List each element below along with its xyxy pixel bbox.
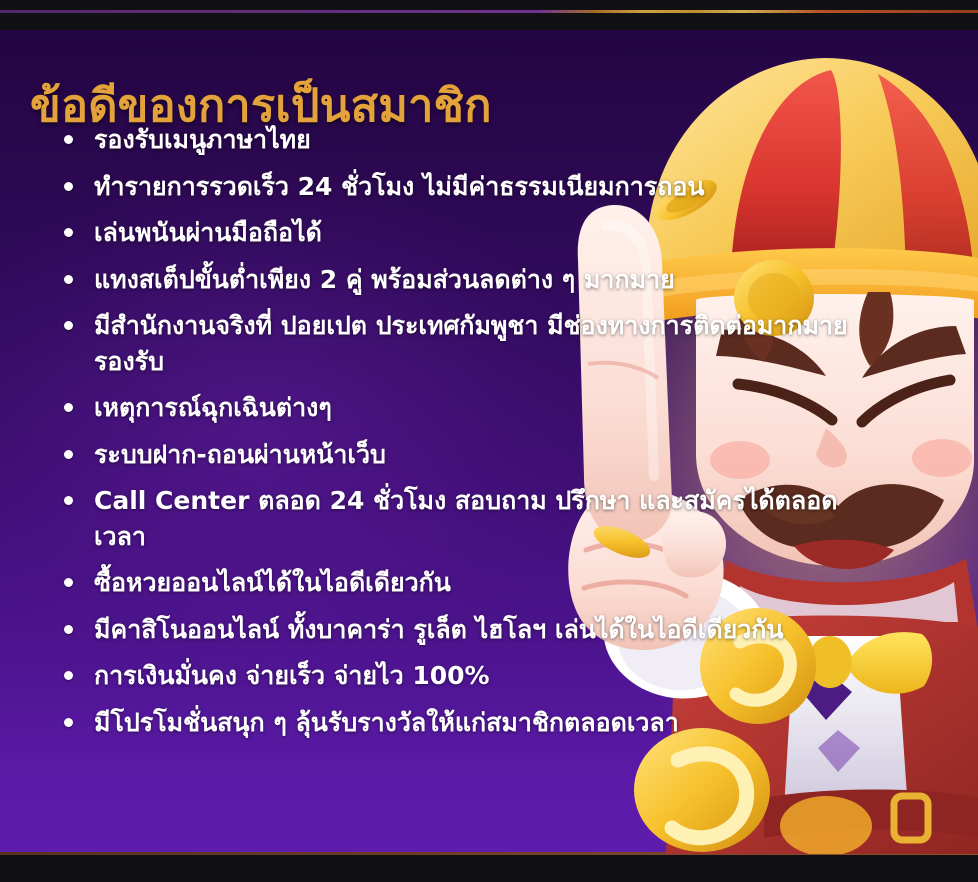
list-item: Call Center ตลอด 24 ชั่วโมง สอบถาม ปรึกษ… bbox=[58, 483, 888, 554]
banner-stage: ข้อดีของการเป็นสมาชิก รองรับเมนูภาษาไทย … bbox=[0, 30, 978, 854]
list-item: ทำรายการรวดเร็ว 24 ชั่วโมง ไม่มีค่าธรรมเ… bbox=[58, 169, 888, 205]
list-item: เหตุการณ์ฉุกเฉินต่างๆ bbox=[58, 390, 888, 426]
list-item: มีคาสิโนออนไลน์ ทั้งบาคาร่า รูเล็ต ไฮโลฯ… bbox=[58, 612, 888, 648]
list-item: มีโปรโมชั่นสนุก ๆ ลุ้นรับรางวัลให้แก่สมา… bbox=[58, 705, 888, 741]
list-item: เล่นพนันผ่านมือถือได้ bbox=[58, 215, 888, 251]
membership-benefits-banner: ข้อดีของการเป็นสมาชิก รองรับเมนูภาษาไทย … bbox=[0, 0, 978, 882]
benefits-list: รองรับเมนูภาษาไทย ทำรายการรวดเร็ว 24 ชั่… bbox=[58, 122, 888, 751]
list-item: แทงสเต็ปขั้นต่ำเพียง 2 คู่ พร้อมส่วนลดต่… bbox=[58, 262, 888, 298]
list-item: ซื้อหวยออนไลน์ได้ในไอดีเดียวกัน bbox=[58, 565, 888, 601]
top-accent-line bbox=[0, 10, 978, 13]
list-item: การเงินมั่นคง จ่ายเร็ว จ่ายไว 100% bbox=[58, 658, 888, 694]
list-item: มีสำนักงานจริงที่ ปอยเปต ประเทศกัมพูชา ม… bbox=[58, 308, 888, 379]
list-item: ระบบฝาก-ถอนผ่านหน้าเว็บ bbox=[58, 437, 888, 473]
bottom-accent-line bbox=[0, 852, 978, 855]
page-title: ข้อดีของการเป็นสมาชิก bbox=[30, 82, 492, 129]
